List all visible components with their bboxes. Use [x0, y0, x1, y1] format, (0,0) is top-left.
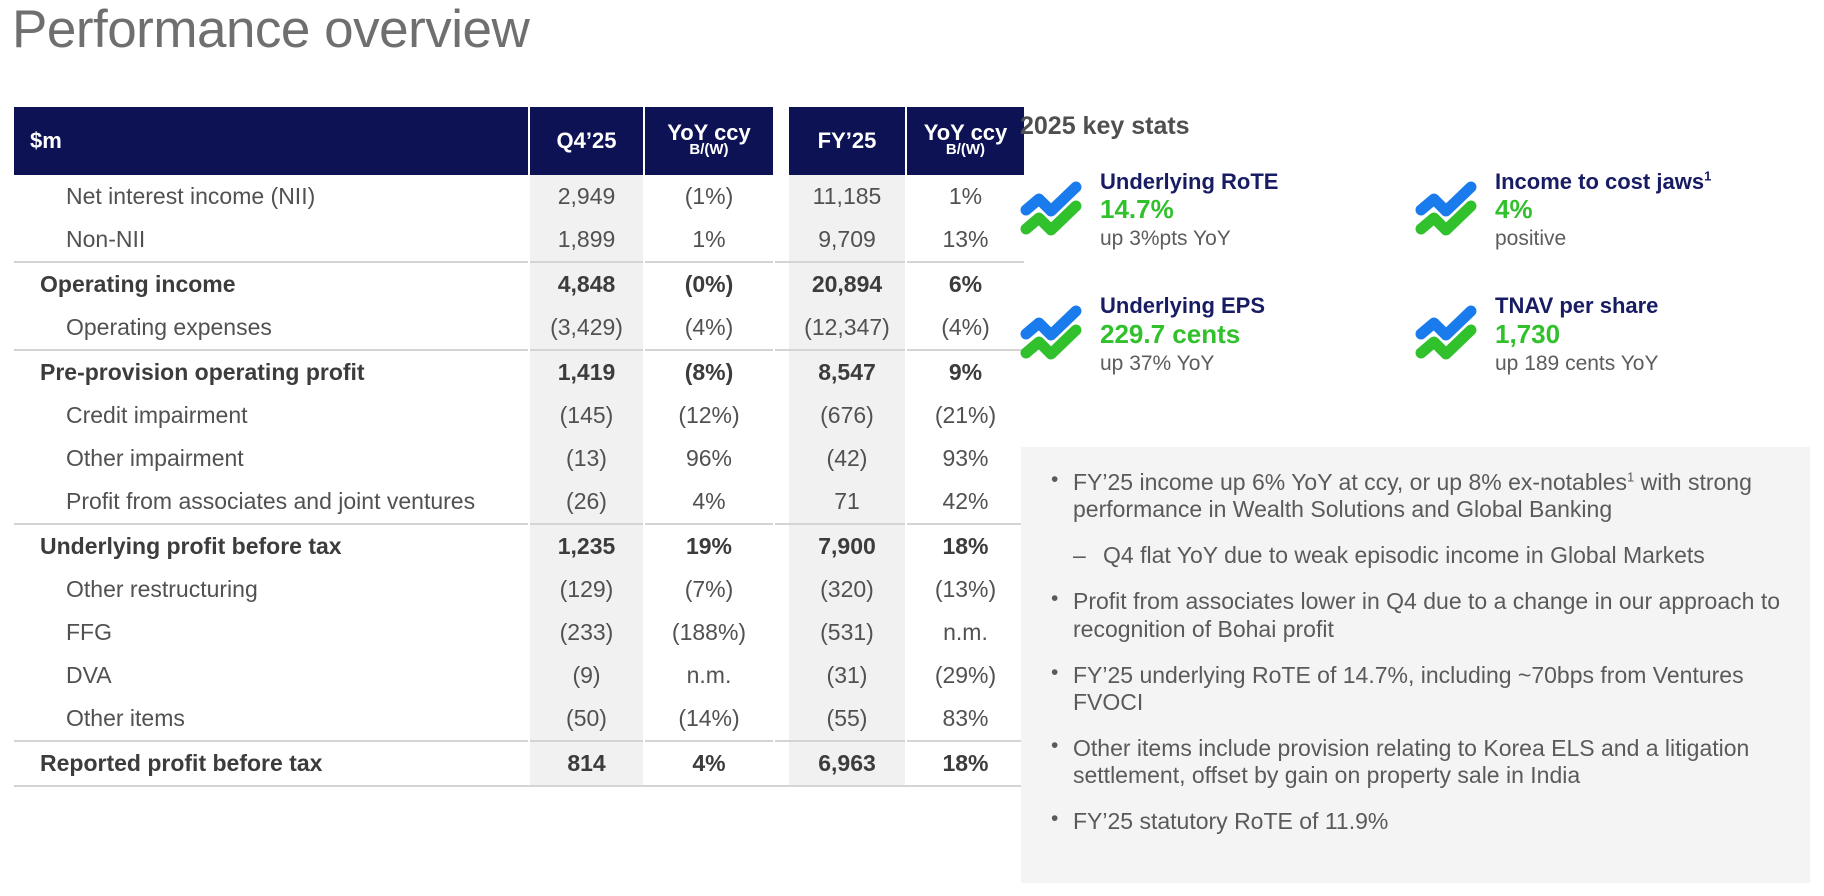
key-stats-grid: Underlying RoTE14.7%up 3%pts YoYIncome t… [1020, 169, 1810, 418]
row-value-fy: 8,547 [789, 350, 906, 394]
column-header-q4-yoy: YoY ccy B/(W) [644, 107, 774, 175]
key-stat-card: Underlying EPS229.7 centsup 37% YoY [1020, 293, 1415, 375]
key-stat-subtext: up 3%pts YoY [1100, 226, 1278, 251]
performance-table-container: $m Q4’25 YoY ccy B/(W) FY’25 Y [14, 107, 1014, 787]
key-stat-label-text: Underlying EPS [1100, 293, 1265, 318]
key-stat-subtext: up 37% YoY [1100, 351, 1265, 376]
row-value-q4-yoy: (0%) [644, 262, 774, 306]
row-value-fy: 11,185 [789, 175, 906, 218]
key-stat-text: Underlying RoTE14.7%up 3%pts YoY [1100, 169, 1278, 251]
table-row: Credit impairment(145)(12%)(676)(21%) [14, 394, 1024, 437]
row-value-q4-yoy: (1%) [644, 175, 774, 218]
row-value-fy-yoy: 83% [906, 697, 1024, 741]
key-stat-label-footnote: 1 [1704, 169, 1711, 184]
row-value-q4: 1,419 [529, 350, 644, 394]
table-row: Non-NII1,8991%9,70913% [14, 218, 1024, 262]
commentary-bullet: Q4 flat YoY due to weak episodic income … [1047, 542, 1784, 569]
row-value-fy-yoy: n.m. [906, 611, 1024, 654]
row-label: Credit impairment [14, 394, 529, 437]
row-value-q4: 814 [529, 741, 644, 786]
key-stat-value: 4% [1495, 195, 1711, 225]
row-value-fy: 6,963 [789, 741, 906, 786]
column-header-label-text: $m [30, 128, 62, 153]
table-row: FFG(233)(188%)(531)n.m. [14, 611, 1024, 654]
key-stat-card: Income to cost jaws14%positive [1415, 169, 1810, 251]
table-row: Net interest income (NII)2,949(1%)11,185… [14, 175, 1024, 218]
row-label: Operating expenses [14, 306, 529, 350]
row-value-fy-yoy: 9% [906, 350, 1024, 394]
row-gap-spacer [774, 568, 789, 611]
table-row: Other impairment(13)96%(42)93% [14, 437, 1024, 480]
table-row: DVA(9)n.m.(31)(29%) [14, 654, 1024, 697]
row-label: Net interest income (NII) [14, 175, 529, 218]
key-stat-label-text: Income to cost jaws [1495, 169, 1704, 194]
key-stat-label: Underlying EPS [1100, 293, 1265, 318]
row-value-fy: (676) [789, 394, 906, 437]
key-stat-label: Income to cost jaws1 [1495, 169, 1711, 194]
row-gap-spacer [774, 175, 789, 218]
row-gap-spacer [774, 306, 789, 350]
column-header-fy-yoy: YoY ccy B/(W) [906, 107, 1024, 175]
row-value-q4-yoy: 96% [644, 437, 774, 480]
row-label: Reported profit before tax [14, 741, 529, 786]
row-gap-spacer [774, 524, 789, 568]
row-value-fy: (31) [789, 654, 906, 697]
key-stat-text: TNAV per share1,730up 189 cents YoY [1495, 293, 1658, 375]
table-row: Reported profit before tax8144%6,96318% [14, 741, 1024, 786]
row-value-q4: (233) [529, 611, 644, 654]
key-stat-text: Underlying EPS229.7 centsup 37% YoY [1100, 293, 1265, 375]
row-gap-spacer [774, 350, 789, 394]
row-value-q4-yoy: (4%) [644, 306, 774, 350]
column-header-fy: FY’25 [789, 107, 906, 175]
row-value-fy-yoy: (4%) [906, 306, 1024, 350]
row-label: FFG [14, 611, 529, 654]
row-gap-spacer [774, 394, 789, 437]
row-value-fy: (12,347) [789, 306, 906, 350]
row-value-fy-yoy: 93% [906, 437, 1024, 480]
commentary-bullet-text: FY’25 underlying RoTE of 14.7%, includin… [1073, 662, 1744, 715]
key-stat-value: 229.7 cents [1100, 320, 1265, 350]
key-stat-card: Underlying RoTE14.7%up 3%pts YoY [1020, 169, 1415, 251]
key-stats-section: 2025 key stats Underlying RoTE14.7%up 3%… [1020, 112, 1810, 418]
column-header-q4-text: Q4’25 [557, 128, 617, 153]
row-value-q4-yoy: (8%) [644, 350, 774, 394]
key-stats-title: 2025 key stats [1020, 112, 1810, 141]
key-stat-value: 1,730 [1495, 320, 1658, 350]
row-value-fy: (531) [789, 611, 906, 654]
commentary-bullet: Profit from associates lower in Q4 due t… [1047, 588, 1784, 642]
dual-arrow-up-icon [1020, 177, 1092, 239]
row-value-q4-yoy: (7%) [644, 568, 774, 611]
table-row: Operating income4,848(0%)20,8946% [14, 262, 1024, 306]
row-value-fy-yoy: 18% [906, 524, 1024, 568]
row-value-q4-yoy: n.m. [644, 654, 774, 697]
row-value-fy-yoy: 42% [906, 480, 1024, 524]
table-body: Net interest income (NII)2,949(1%)11,185… [14, 175, 1024, 786]
row-gap-spacer [774, 262, 789, 306]
row-label: Other impairment [14, 437, 529, 480]
row-value-q4: 1,899 [529, 218, 644, 262]
row-value-q4: (13) [529, 437, 644, 480]
commentary-bullet-text: Profit from associates lower in Q4 due t… [1073, 588, 1780, 641]
row-value-q4-yoy: (14%) [644, 697, 774, 741]
table-row: Operating expenses(3,429)(4%)(12,347)(4%… [14, 306, 1024, 350]
row-value-q4: 1,235 [529, 524, 644, 568]
row-label: Underlying profit before tax [14, 524, 529, 568]
row-label: Profit from associates and joint venture… [14, 480, 529, 524]
row-value-fy: 71 [789, 480, 906, 524]
row-value-fy-yoy: (13%) [906, 568, 1024, 611]
row-gap-spacer [774, 437, 789, 480]
row-label: Other restructuring [14, 568, 529, 611]
row-value-q4-yoy: 4% [644, 741, 774, 786]
page-title: Performance overview [12, 0, 529, 62]
row-value-fy: 9,709 [789, 218, 906, 262]
row-value-fy-yoy: (21%) [906, 394, 1024, 437]
row-value-fy-yoy: 6% [906, 262, 1024, 306]
table-header-row: $m Q4’25 YoY ccy B/(W) FY’25 Y [14, 107, 1024, 175]
column-header-label: $m [14, 107, 529, 175]
row-label: Other items [14, 697, 529, 741]
table-row: Profit from associates and joint venture… [14, 480, 1024, 524]
row-value-fy-yoy: 1% [906, 175, 1024, 218]
column-header-q4: Q4’25 [529, 107, 644, 175]
row-value-fy-yoy: 13% [906, 218, 1024, 262]
row-value-q4: (129) [529, 568, 644, 611]
dual-arrow-up-icon [1415, 301, 1487, 363]
key-stat-subtext: positive [1495, 226, 1711, 251]
row-label: Pre-provision operating profit [14, 350, 529, 394]
row-value-q4: (145) [529, 394, 644, 437]
row-value-fy: 7,900 [789, 524, 906, 568]
row-gap-spacer [774, 611, 789, 654]
row-gap-spacer [774, 480, 789, 524]
row-value-q4-yoy: 19% [644, 524, 774, 568]
row-value-fy-yoy: 18% [906, 741, 1024, 786]
row-label: DVA [14, 654, 529, 697]
key-stat-subtext: up 189 cents YoY [1495, 351, 1658, 376]
row-value-fy-yoy: (29%) [906, 654, 1024, 697]
key-stat-label: Underlying RoTE [1100, 169, 1278, 194]
key-stat-text: Income to cost jaws14%positive [1495, 169, 1711, 251]
dual-arrow-up-icon [1415, 177, 1487, 239]
row-gap-spacer [774, 218, 789, 262]
row-value-q4: (26) [529, 480, 644, 524]
row-value-q4-yoy: 4% [644, 480, 774, 524]
commentary-bullet: FY’25 statutory RoTE of 11.9% [1047, 808, 1784, 835]
row-value-q4: 2,949 [529, 175, 644, 218]
commentary-bullet: Other items include provision relating t… [1047, 735, 1784, 789]
row-value-fy: 20,894 [789, 262, 906, 306]
commentary-bullet-text: Q4 flat YoY due to weak episodic income … [1103, 542, 1705, 568]
commentary-bullet: FY’25 underlying RoTE of 14.7%, includin… [1047, 662, 1784, 716]
row-value-fy: (55) [789, 697, 906, 741]
row-gap-spacer [774, 654, 789, 697]
row-label: Non-NII [14, 218, 529, 262]
commentary-bullet-text: Other items include provision relating t… [1073, 735, 1749, 788]
column-header-fy-text: FY’25 [818, 128, 877, 153]
row-label: Operating income [14, 262, 529, 306]
key-stat-value: 14.7% [1100, 195, 1278, 225]
column-gap-spacer [774, 107, 789, 175]
row-value-q4: (3,429) [529, 306, 644, 350]
row-value-fy: (42) [789, 437, 906, 480]
commentary-bullet-text: FY’25 income up 6% YoY at ccy, or up 8% … [1073, 469, 1627, 495]
performance-table: $m Q4’25 YoY ccy B/(W) FY’25 Y [14, 107, 1024, 787]
row-value-q4-yoy: 1% [644, 218, 774, 262]
key-stat-card: TNAV per share1,730up 189 cents YoY [1415, 293, 1810, 375]
row-value-q4-yoy: (188%) [644, 611, 774, 654]
key-stat-label: TNAV per share [1495, 293, 1658, 318]
commentary-bullet: FY’25 income up 6% YoY at ccy, or up 8% … [1047, 469, 1784, 523]
key-stat-label-text: Underlying RoTE [1100, 169, 1278, 194]
row-value-q4: (50) [529, 697, 644, 741]
table-row: Other restructuring(129)(7%)(320)(13%) [14, 568, 1024, 611]
dual-arrow-up-icon [1020, 301, 1092, 363]
row-value-q4: (9) [529, 654, 644, 697]
table-row: Pre-provision operating profit1,419(8%)8… [14, 350, 1024, 394]
row-gap-spacer [774, 697, 789, 741]
commentary-bullet-list: FY’25 income up 6% YoY at ccy, or up 8% … [1047, 469, 1784, 835]
table-header: $m Q4’25 YoY ccy B/(W) FY’25 Y [14, 107, 1024, 175]
table-row: Underlying profit before tax1,23519%7,90… [14, 524, 1024, 568]
row-gap-spacer [774, 741, 789, 786]
row-value-fy: (320) [789, 568, 906, 611]
key-stat-label-text: TNAV per share [1495, 293, 1658, 318]
row-value-q4: 4,848 [529, 262, 644, 306]
row-value-q4-yoy: (12%) [644, 394, 774, 437]
commentary-panel: FY’25 income up 6% YoY at ccy, or up 8% … [1021, 447, 1810, 883]
commentary-bullet-text: FY’25 statutory RoTE of 11.9% [1073, 808, 1388, 834]
table-row: Other items(50)(14%)(55)83% [14, 697, 1024, 741]
